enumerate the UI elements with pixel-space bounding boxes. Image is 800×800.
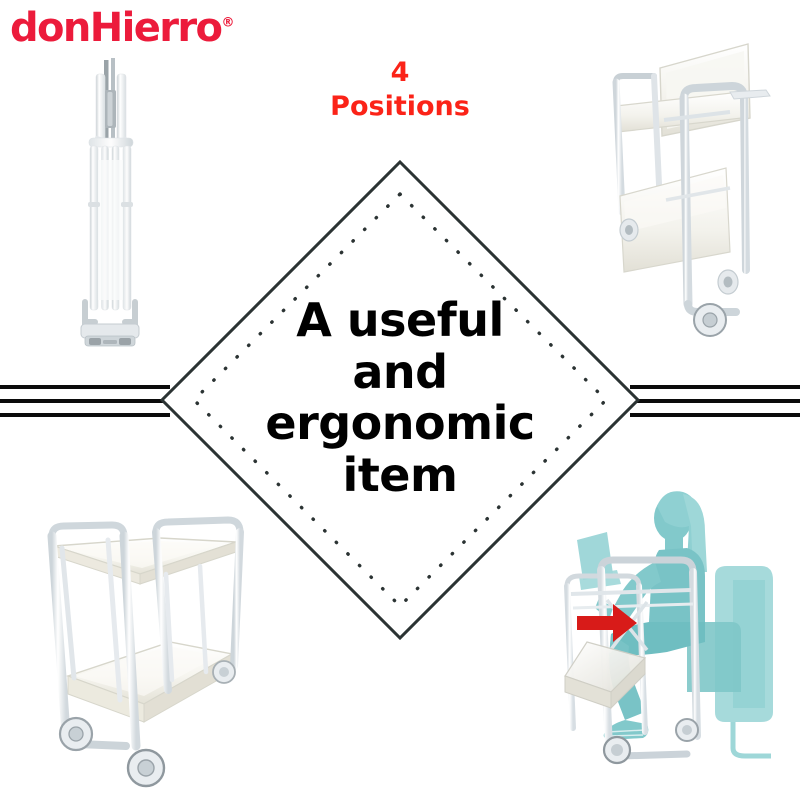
rule-line bbox=[630, 399, 800, 403]
rule-line bbox=[630, 413, 800, 417]
brand-logo-text: donHierro bbox=[10, 5, 221, 51]
brand-logo: donHierro® bbox=[10, 8, 234, 48]
rule-group-left bbox=[0, 380, 170, 422]
promo-canvas: donHierro® 4 Positions A useful and ergo… bbox=[0, 0, 800, 800]
headline: 4 Positions bbox=[280, 56, 520, 124]
product-photo-trolley-folded bbox=[55, 50, 185, 360]
badge-text-line-3: ergonomic bbox=[210, 398, 590, 450]
badge-text-line-2: and bbox=[210, 347, 590, 399]
rule-line bbox=[0, 385, 170, 389]
open-trolley-graphic bbox=[52, 520, 240, 786]
registered-trademark-icon: ® bbox=[221, 16, 234, 31]
half-folded-trolley-graphic bbox=[616, 44, 770, 336]
rule-line bbox=[0, 399, 170, 403]
product-photo-trolley-half-folded bbox=[580, 20, 800, 350]
product-photo-trolley-in-use bbox=[555, 480, 800, 800]
headline-line-2: Positions bbox=[280, 90, 520, 124]
rule-line bbox=[0, 413, 170, 417]
badge-text-line-1: A useful bbox=[210, 295, 590, 347]
folded-trolley-graphic bbox=[81, 58, 139, 346]
product-photo-trolley-open bbox=[20, 480, 285, 800]
rule-group-right bbox=[630, 380, 800, 422]
rule-line bbox=[630, 385, 800, 389]
badge-text: A useful and ergonomic item bbox=[210, 295, 590, 501]
headline-line-1: 4 bbox=[280, 56, 520, 90]
